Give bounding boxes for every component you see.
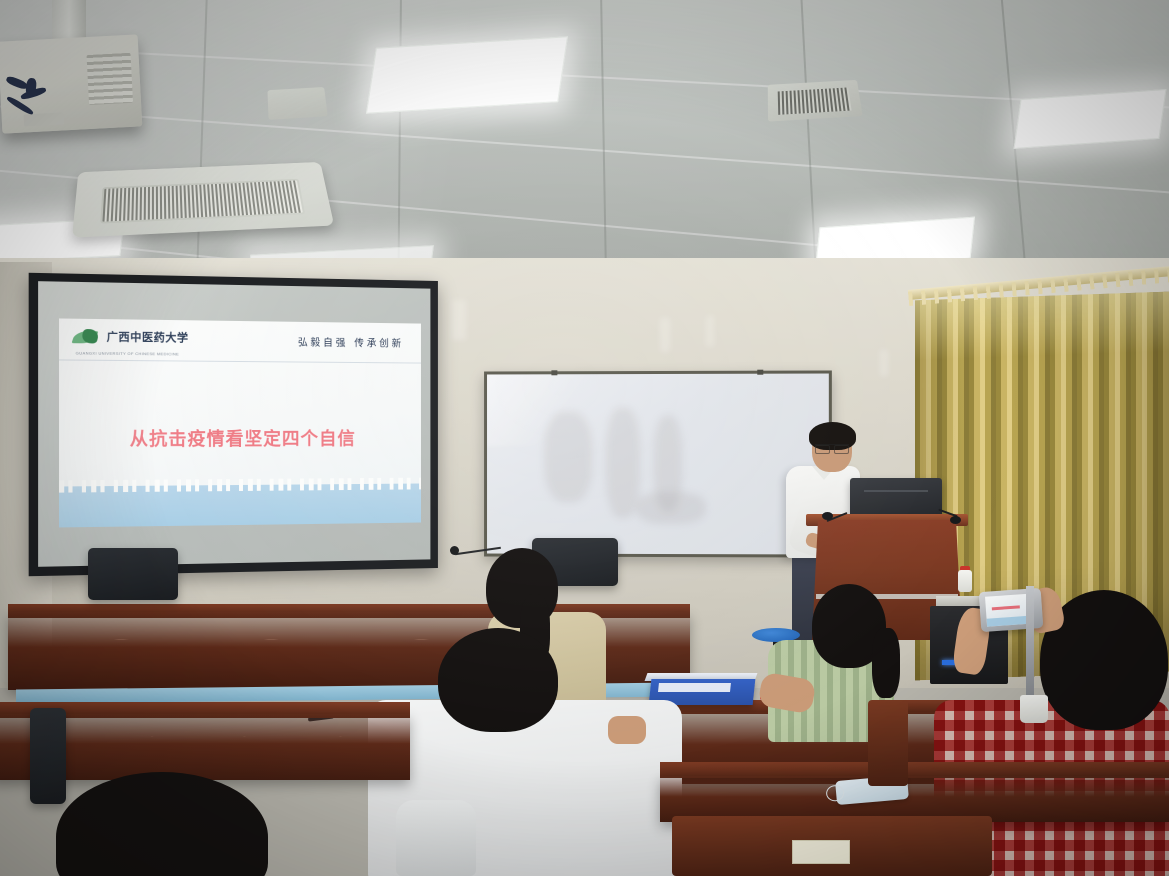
university-name-en: GUANGXI UNIVERSITY OF CHINESE MEDICINE <box>76 351 179 357</box>
air-conditioner-grille <box>100 179 305 224</box>
chair <box>88 548 178 600</box>
university-logo: 广西中医药大学 GUANGXI UNIVERSITY OF CHINESE ME… <box>74 328 189 346</box>
slide-divider <box>59 359 421 363</box>
chair <box>30 708 66 804</box>
projection-screen: 广西中医药大学 GUANGXI UNIVERSITY OF CHINESE ME… <box>29 273 438 576</box>
microphone-head <box>950 516 961 524</box>
wall-mark <box>660 318 670 352</box>
ceiling <box>0 0 1169 290</box>
ceiling-shading <box>0 0 1169 290</box>
projector <box>0 34 142 133</box>
university-motto: 弘毅自强 传承创新 <box>298 334 404 350</box>
projector-vent <box>87 53 134 105</box>
foreground-person-torso <box>396 800 476 876</box>
tripod-stand <box>1026 586 1034 696</box>
presentation-slide: 广西中医药大学 GUANGXI UNIVERSITY OF CHINESE ME… <box>59 318 421 527</box>
wall-mark <box>706 316 714 346</box>
slide-bottom-band <box>59 483 421 527</box>
audience-arm <box>608 716 646 744</box>
projector-cables <box>2 74 69 129</box>
desk-trim <box>15 736 385 757</box>
whiteboard-clip <box>757 370 763 375</box>
whiteboard-surface <box>487 374 829 555</box>
speaker-glasses <box>815 444 849 452</box>
lecture-hall-photo: 广西中医药大学 GUANGXI UNIVERSITY OF CHINESE ME… <box>0 0 1169 876</box>
binder-label <box>658 683 731 692</box>
water-bottle <box>958 570 972 592</box>
leaf-logo-icon <box>74 328 103 344</box>
audience-hair <box>872 628 900 698</box>
slide-title: 从抗击疫情看坚定四个自信 <box>59 425 421 452</box>
microphone-head <box>822 512 833 520</box>
air-conditioner-side-vent <box>267 87 327 120</box>
microphone-head <box>450 546 459 555</box>
projection-screen-surface: 广西中医药大学 GUANGXI UNIVERSITY OF CHINESE ME… <box>38 281 430 567</box>
desk-label <box>792 840 850 864</box>
ceiling-air-vent <box>768 80 863 122</box>
whiteboard <box>484 370 832 557</box>
smartphone-screen <box>985 594 1029 627</box>
audience-head-front <box>438 628 558 732</box>
foreground-person-head <box>56 772 268 876</box>
wall-mark <box>452 300 466 340</box>
cup <box>1020 695 1048 723</box>
chair-arm <box>868 700 908 786</box>
ceiling-light-panel <box>366 36 568 113</box>
ceiling-light-panel <box>1014 89 1167 149</box>
whiteboard-clip <box>551 370 557 375</box>
air-conditioner-unit <box>72 162 334 238</box>
wall-mark <box>880 350 888 376</box>
university-name-cn: 广西中医药大学 <box>107 328 189 345</box>
